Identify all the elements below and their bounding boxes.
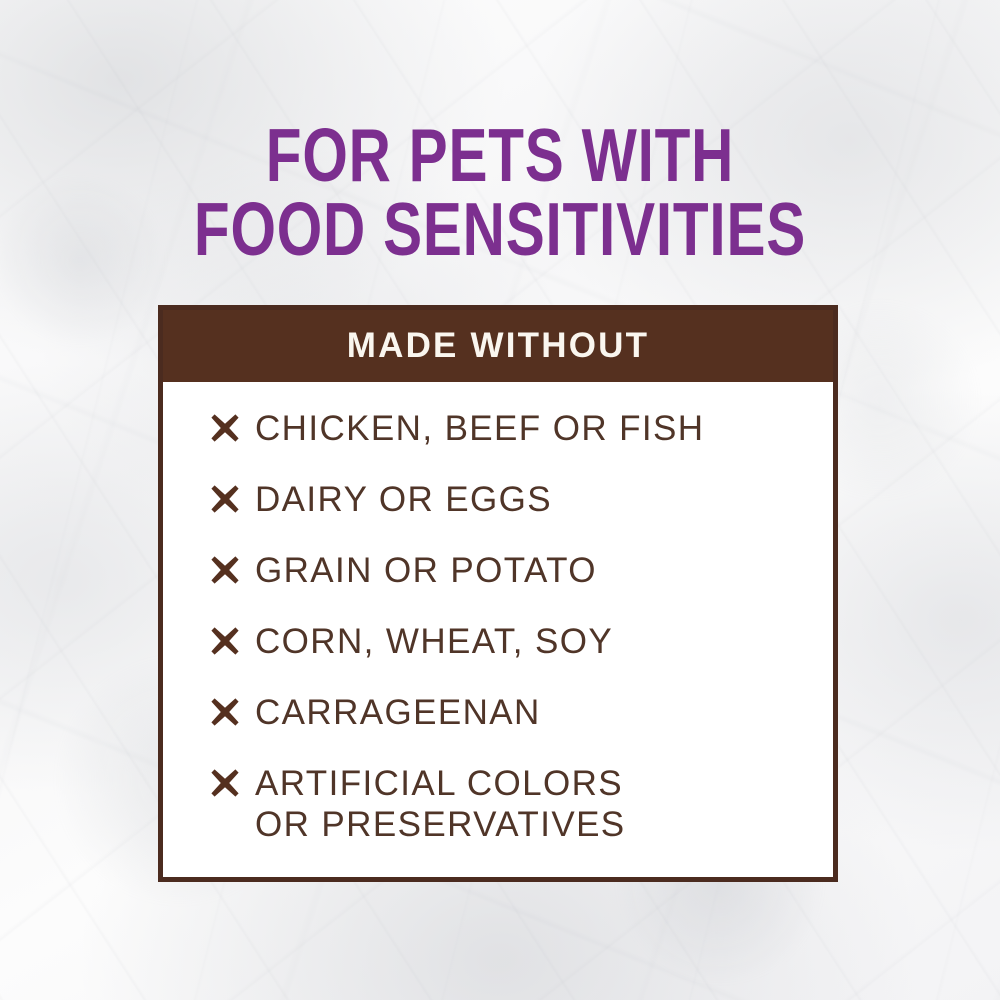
list-item-label: DAIRY OR EGGS xyxy=(255,479,552,520)
x-mark-icon xyxy=(210,484,240,514)
page-title-line-2: FOOD SENSITIVITIES xyxy=(110,192,890,266)
card-header-band: MADE WITHOUT xyxy=(163,310,833,382)
x-mark-icon xyxy=(210,768,240,798)
made-without-list: CHICKEN, BEEF OR FISH DAIRY OR EGGS GRAI… xyxy=(163,382,833,845)
list-item: DAIRY OR EGGS xyxy=(163,479,833,520)
list-item: CARRAGEENAN xyxy=(163,692,833,733)
page-title: FOR PETS WITH FOOD SENSITIVITIES xyxy=(110,118,890,266)
x-mark-icon xyxy=(210,626,240,656)
page-title-line-1: FOR PETS WITH xyxy=(110,118,890,192)
list-item-label: GRAIN OR POTATO xyxy=(255,550,597,591)
list-item: GRAIN OR POTATO xyxy=(163,550,833,591)
list-item: CORN, WHEAT, SOY xyxy=(163,621,833,662)
list-item: CHICKEN, BEEF OR FISH xyxy=(163,408,833,449)
list-item-label: CORN, WHEAT, SOY xyxy=(255,621,613,662)
product-info-poster: FOR PETS WITH FOOD SENSITIVITIES MADE WI… xyxy=(0,0,1000,1000)
list-item-label: ARTIFICIAL COLORS OR PRESERVATIVES xyxy=(255,763,626,845)
x-mark-icon xyxy=(210,697,240,727)
card-header-title: MADE WITHOUT xyxy=(347,326,649,366)
list-item-label: CHICKEN, BEEF OR FISH xyxy=(255,408,704,449)
list-item: ARTIFICIAL COLORS OR PRESERVATIVES xyxy=(163,763,833,845)
x-mark-icon xyxy=(210,413,240,443)
list-item-label: CARRAGEENAN xyxy=(255,692,541,733)
x-mark-icon xyxy=(210,555,240,585)
made-without-card: MADE WITHOUT CHICKEN, BEEF OR FISH DAIRY… xyxy=(158,305,838,882)
